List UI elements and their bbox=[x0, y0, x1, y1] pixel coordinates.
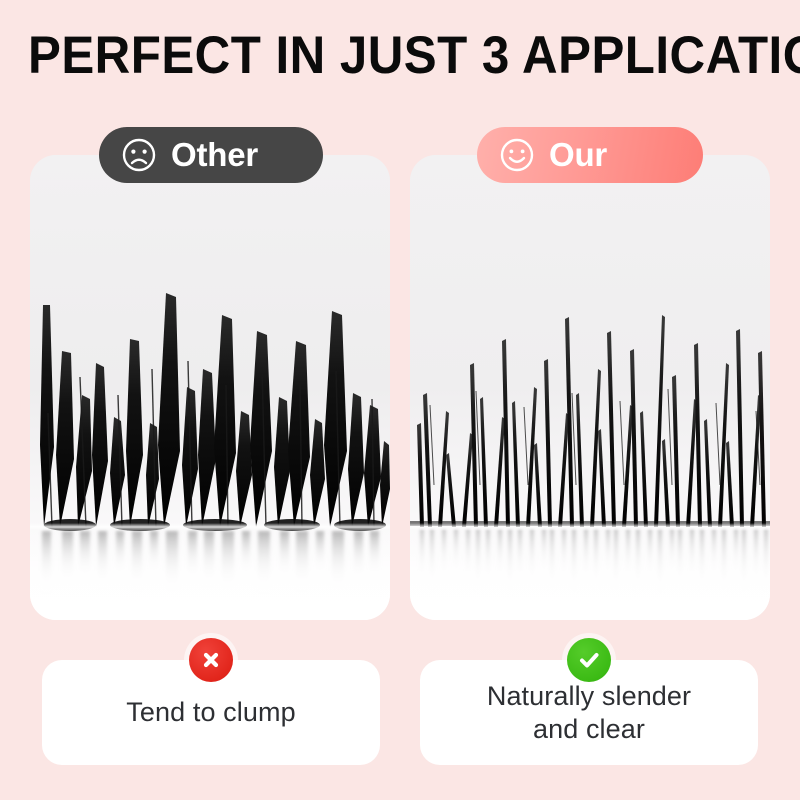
reflection-fade-other bbox=[30, 529, 390, 620]
page-title: PERFECT IN JUST 3 APPLICATIONS bbox=[28, 26, 772, 86]
badge-our-label: Our bbox=[549, 138, 607, 171]
badge-our: Our bbox=[477, 127, 703, 183]
caption-text-our: Naturally slender and clear bbox=[487, 680, 691, 746]
check-icon bbox=[576, 647, 602, 673]
comparison-panels bbox=[30, 155, 770, 620]
sad-face-icon bbox=[121, 137, 157, 173]
cross-icon bbox=[199, 648, 223, 672]
lash-image-other bbox=[30, 155, 390, 620]
badge-other: Other bbox=[99, 127, 323, 183]
comparison-panel-our bbox=[410, 155, 770, 620]
status-badge-cross bbox=[189, 638, 233, 682]
status-badge-check bbox=[567, 638, 611, 682]
comparison-panel-other bbox=[30, 155, 390, 620]
caption-text-other: Tend to clump bbox=[126, 696, 295, 729]
reflection-fade-our bbox=[410, 529, 770, 620]
lash-image-our bbox=[410, 155, 770, 620]
badge-other-label: Other bbox=[171, 138, 258, 171]
smiley-face-icon bbox=[499, 137, 535, 173]
